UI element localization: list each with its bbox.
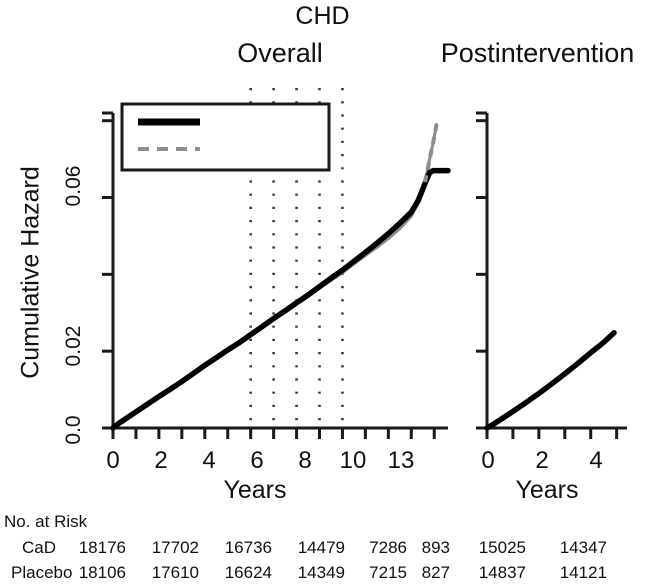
y-axis-ticks-overall (102, 113, 113, 428)
x-axis-ticks-post (487, 428, 617, 439)
plot-area (0, 0, 645, 587)
legend-box (122, 104, 329, 170)
chd-cumulative-hazard-figure: CHD Overall Postintervention Cumulative … (0, 0, 645, 587)
series-line-cad-post (487, 333, 614, 428)
panel-postintervention (476, 113, 627, 439)
legend (122, 104, 329, 170)
y-axis-ticks-post (476, 113, 487, 428)
x-axis-ticks-overall (113, 428, 434, 439)
series-line-cad-overall (113, 171, 448, 428)
